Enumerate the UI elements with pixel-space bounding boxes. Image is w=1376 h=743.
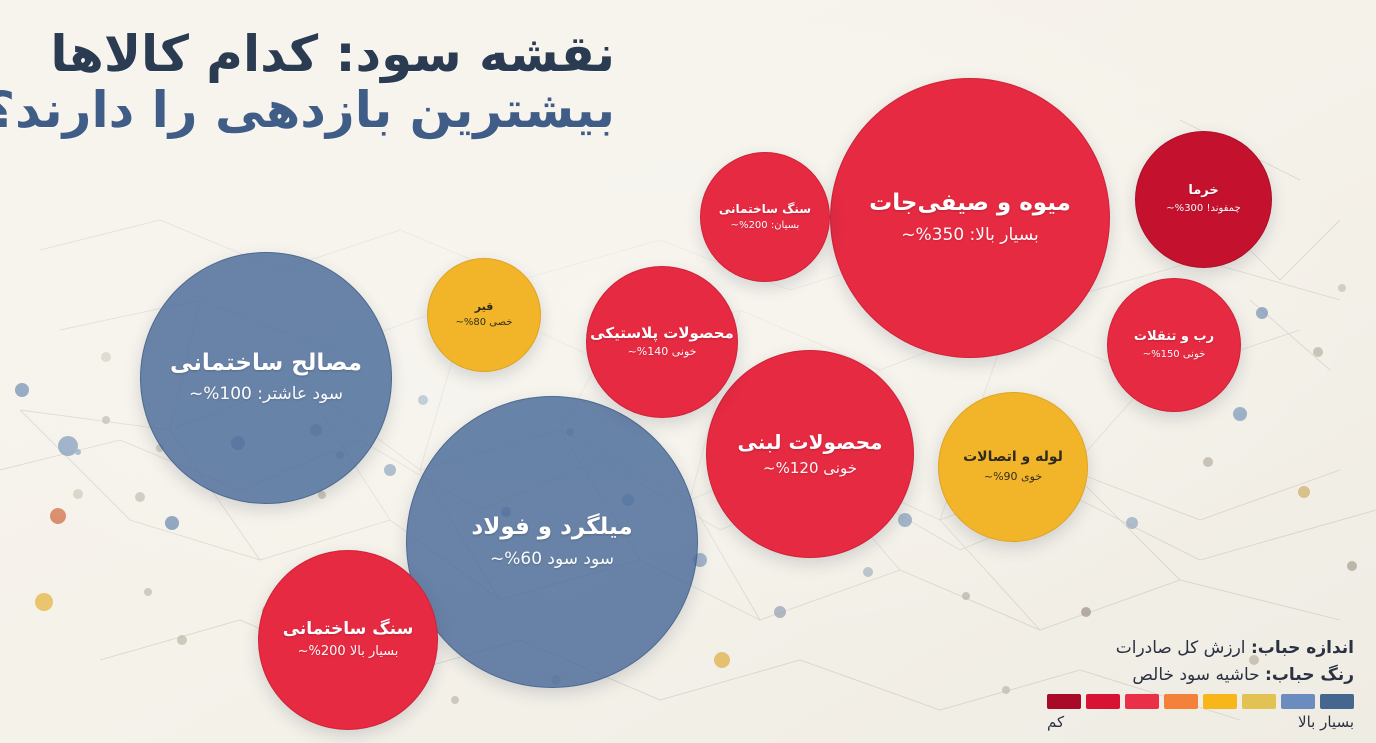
- legend-swatch-5: [1164, 694, 1198, 709]
- bubble-value: بسیان: 200%~: [731, 220, 800, 232]
- bubble-1[interactable]: مصالح ساختمانیسود عاشتر: 100%~: [140, 252, 392, 504]
- legend: اندازه حباب: ارزش کل صادرات رنگ حباب: حا…: [1047, 638, 1354, 731]
- bubble-label: مصالح ساختمانی: [170, 351, 362, 376]
- bubble-value: بسیار بالا: 350%~: [901, 226, 1038, 246]
- bubble-5[interactable]: محصولات پلاستیکیخونی 140%~: [586, 266, 738, 418]
- bubble-3[interactable]: قیرخصی 80%~: [427, 258, 541, 372]
- title-line-2: بیشترین بازدهی را دارند؟: [55, 82, 615, 138]
- bubble-label: سنگ ساختمانی: [283, 620, 414, 639]
- bubble-8[interactable]: میوه و صیفی‌جاتبسیار بالا: 350%~: [830, 78, 1110, 358]
- legend-swatch-6: [1125, 694, 1159, 709]
- bubble-11[interactable]: خرماچمفوند! 300%~: [1135, 131, 1272, 268]
- bubble-label: خرما: [1188, 184, 1218, 198]
- page-title: نقشه سود: کدام کالاها بیشترین بازدهی را …: [55, 26, 615, 138]
- bubble-value: خصی 80%~: [456, 317, 513, 329]
- bubble-label: محصولات پلاستیکی: [590, 325, 734, 342]
- bubble-label: رب و تنقلات: [1134, 330, 1214, 344]
- legend-swatch-7: [1086, 694, 1120, 709]
- bubble-value: چمفوند! 300%~: [1166, 203, 1240, 215]
- bubble-label: میلگرد و فولاد: [471, 515, 632, 540]
- bubble-label: لوله و اتصالات: [963, 450, 1063, 465]
- legend-swatch-3: [1242, 694, 1276, 709]
- legend-color-text: حاشیه سود خالص: [1132, 665, 1265, 685]
- bubble-10[interactable]: رب و تنقلاتخونی 150%~: [1107, 278, 1241, 412]
- bubble-value: خونی 120%~: [763, 460, 857, 477]
- bubble-value: خوی 90%~: [984, 471, 1042, 484]
- bubble-label: محصولات لبنی: [737, 431, 882, 453]
- bubble-value: سود سود 60%~: [490, 550, 614, 570]
- legend-swatch-1: [1320, 694, 1354, 709]
- legend-high-label: بسیار بالا: [1298, 713, 1354, 731]
- legend-low-label: کم: [1047, 713, 1064, 731]
- bubble-9[interactable]: لوله و اتصالاتخوی 90%~: [938, 392, 1088, 542]
- legend-swatch-8: [1047, 694, 1081, 709]
- bubble-label: قیر: [475, 301, 494, 313]
- bubble-value: خونی 150%~: [1143, 349, 1206, 361]
- bubble-2[interactable]: میلگرد و فولادسود سود 60%~: [406, 396, 698, 688]
- legend-size-text: ارزش کل صادرات: [1116, 638, 1251, 658]
- legend-swatch-2: [1281, 694, 1315, 709]
- bubble-value: بسیار بالا 200%~: [298, 645, 399, 660]
- bubble-7[interactable]: محصولات لبنیخونی 120%~: [706, 350, 914, 558]
- bubble-label: میوه و صیفی‌جات: [869, 191, 1071, 216]
- bubble-label: سنگ ساختمانی: [719, 203, 811, 216]
- legend-color-scale: [1047, 694, 1354, 709]
- legend-scale-endpoints: بسیار بالا کم: [1047, 713, 1354, 731]
- title-line-1: نقشه سود: کدام کالاها: [55, 26, 615, 82]
- legend-size-key: اندازه حباب:: [1251, 638, 1354, 658]
- bubble-4[interactable]: سنگ ساختمانیبسیار بالا 200%~: [258, 550, 438, 730]
- bubble-value: سود عاشتر: 100%~: [189, 385, 343, 405]
- legend-color-line: رنگ حباب: حاشیه سود خالص: [1047, 665, 1354, 685]
- infographic-canvas: نقشه سود: کدام کالاها بیشترین بازدهی را …: [0, 0, 1376, 743]
- bubble-value: خونی 140%~: [628, 346, 697, 359]
- legend-size-line: اندازه حباب: ارزش کل صادرات: [1047, 638, 1354, 658]
- legend-color-key: رنگ حباب:: [1265, 665, 1354, 685]
- legend-swatch-4: [1203, 694, 1237, 709]
- bubble-6[interactable]: سنگ ساختمانیبسیان: 200%~: [700, 152, 830, 282]
